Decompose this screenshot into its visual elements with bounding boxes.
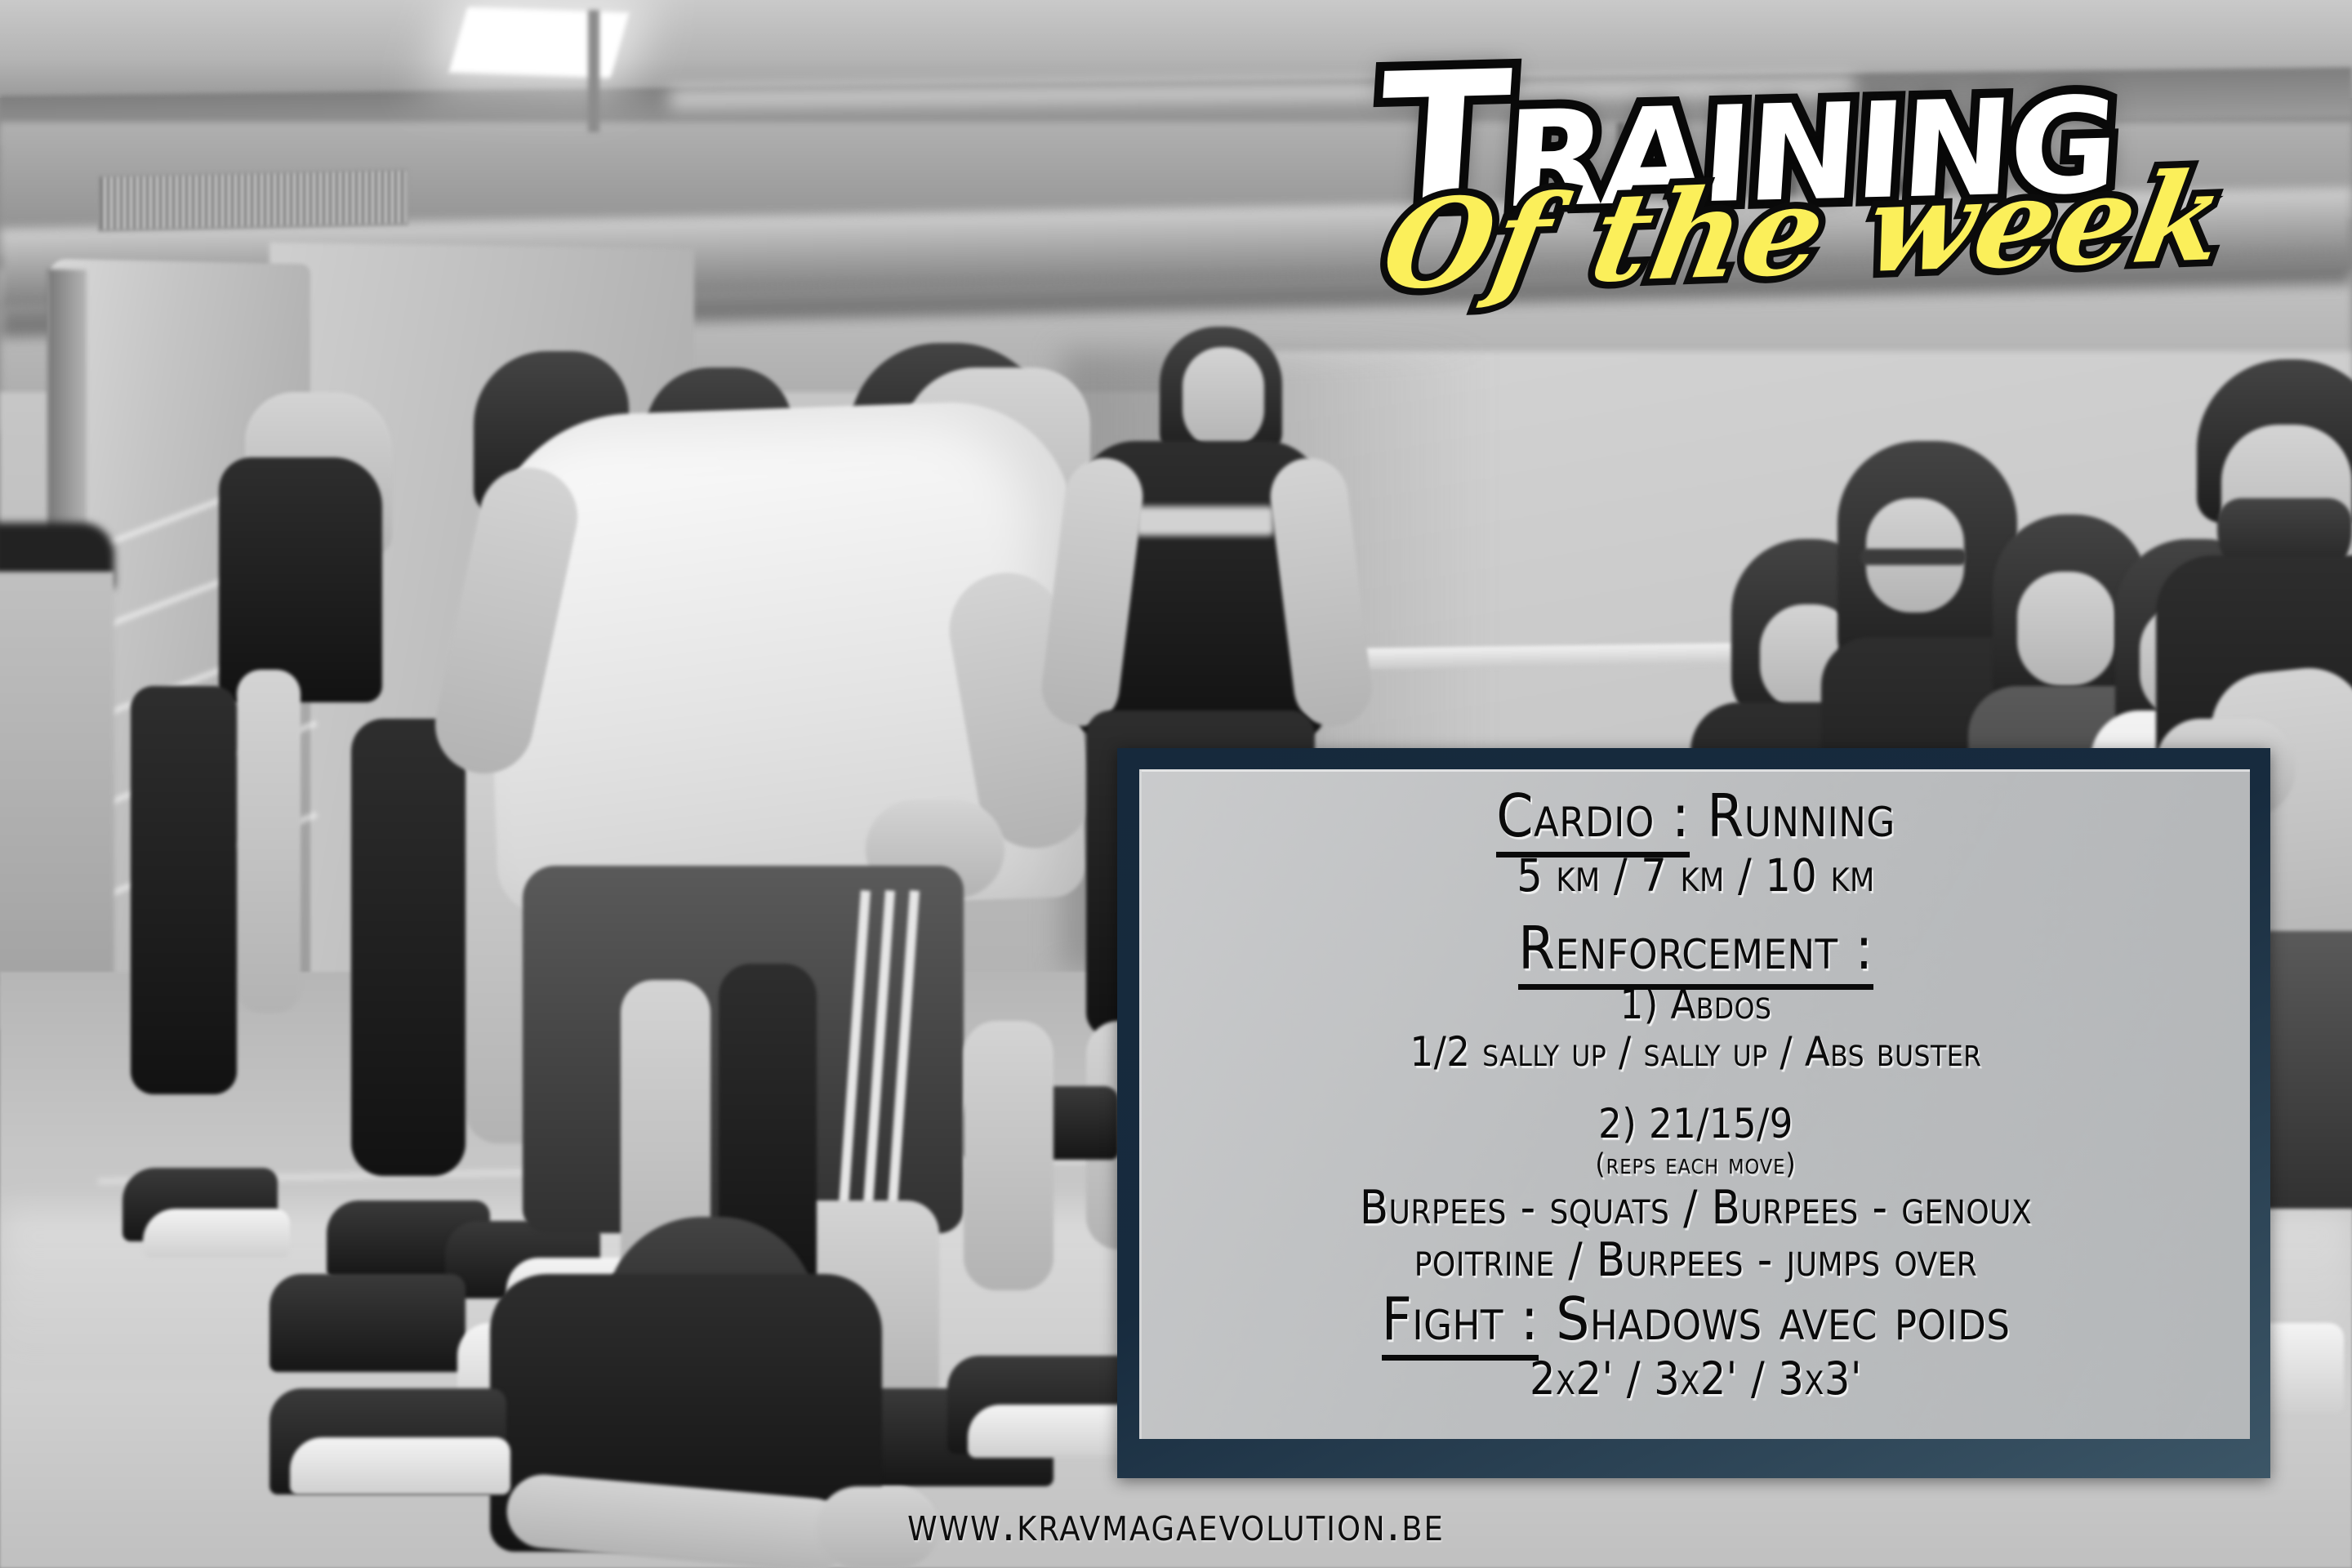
workout-panel: Cardio : Running 5 km / 7 km / 10 km Ren…: [1117, 748, 2270, 1478]
ceiling-light-icon: [449, 7, 630, 78]
participant-glasses-icon: [1860, 549, 1967, 565]
trainee-shirt: [219, 457, 382, 702]
wall-cabinet: [0, 572, 114, 996]
foreground-shoe-white: [290, 1437, 510, 1494]
section-heading-fight: Fight : Shadows avec poids: [1163, 1286, 2229, 1352]
website-url: www.kravmagaevolution.be: [0, 1496, 2352, 1552]
fight-label: Fight :: [1382, 1285, 1539, 1361]
cardio-distances: 5 km / 7 km / 10 km: [1163, 849, 2229, 902]
cardio-label: Cardio :: [1496, 782, 1690, 857]
renforcement-item-2-moves-line2: poitrine / Burpees - jumps over: [1163, 1234, 2229, 1286]
trainee-leg: [237, 670, 301, 1013]
coach-face: [1183, 347, 1264, 449]
section-heading-cardio: Cardio : Running: [1163, 783, 2229, 849]
coach-shirt-print: [1135, 506, 1274, 536]
trainee-legging: [351, 719, 465, 1176]
trainee-shoe-white: [143, 1209, 290, 1258]
fight-times: 2x2' / 3x2' / 3x3': [1163, 1352, 2229, 1405]
workout-panel-inner: Cardio : Running 5 km / 7 km / 10 km Ren…: [1139, 769, 2250, 1439]
row-shoe: [269, 1274, 465, 1372]
poster-canvas: Training Of the week Cardio : Running 5 …: [0, 0, 2352, 1568]
cardio-value: Running: [1690, 782, 1895, 850]
row-leg: [964, 1021, 1053, 1290]
renforcement-item-2-moves-line1: Burpees - squats / Burpees - genoux: [1163, 1182, 2229, 1234]
section-heading-renforcement: Renforcement :: [1163, 915, 2229, 981]
renforcement-item-2: 2) 21/15/9: [1163, 1100, 2229, 1147]
trainee-shorts: [131, 686, 237, 1094]
renforcement-label: Renforcement :: [1518, 914, 1873, 990]
fight-value: Shadows avec poids: [1539, 1285, 2010, 1353]
ceiling-pipe: [588, 10, 599, 132]
participant-face: [2017, 572, 2115, 686]
renforcement-item-1: 1) Abdos: [1163, 981, 2229, 1028]
renforcement-item-1-moves: 1/2 sally up / sally up / Abs buster: [1163, 1028, 2229, 1076]
wall-vent-grille: [98, 168, 408, 232]
renforcement-item-2-note: (reps each move): [1163, 1147, 2229, 1182]
